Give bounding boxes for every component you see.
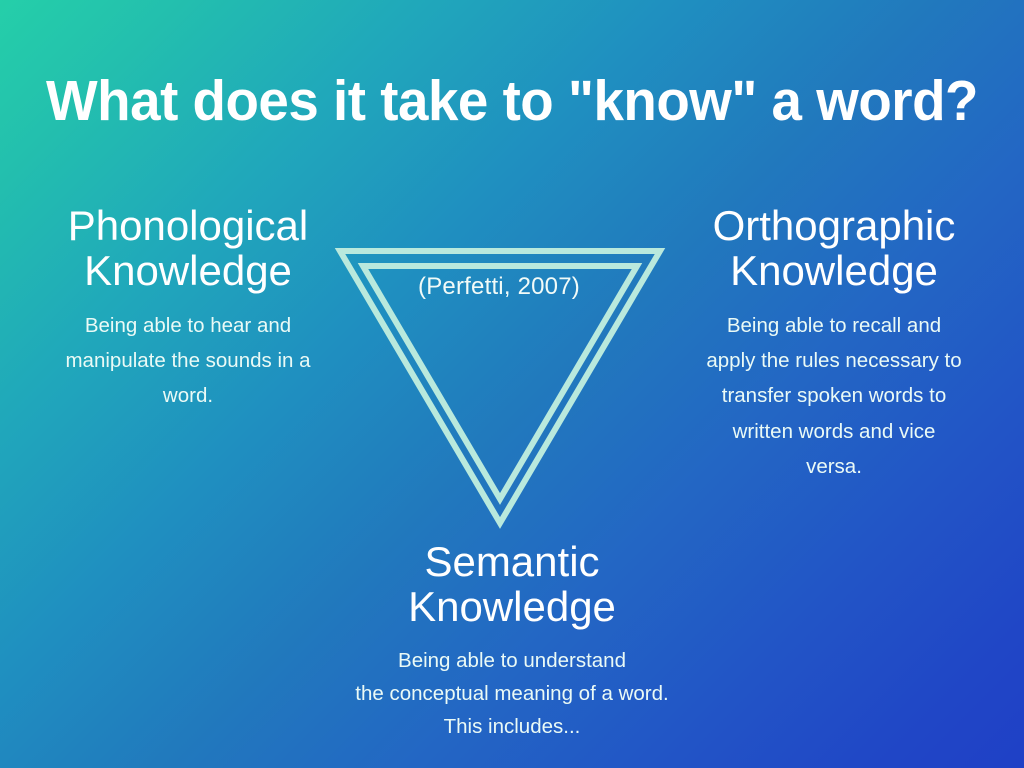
orthographic-heading: Orthographic Knowledge [648,204,1020,294]
slide-canvas: What does it take to "know" a word? Phon… [0,0,1024,768]
diagram-node-semantic: Semantic Knowledge Being able to underst… [262,540,762,743]
semantic-description: Being able to understand the conceptual … [262,644,762,744]
phonological-heading: Phonological Knowledge [8,204,368,294]
orthographic-description: Being able to recall and apply the rules… [648,308,1020,484]
citation-label: (Perfetti, 2007) [324,273,674,301]
phonological-description: Being able to hear and manipulate the so… [8,308,368,414]
diagram-node-phonological: Phonological Knowledge Being able to hea… [8,204,368,414]
semantic-heading: Semantic Knowledge [262,540,762,630]
page-title: What does it take to "know" a word? [20,72,1003,132]
diagram-node-orthographic: Orthographic Knowledge Being able to rec… [648,204,1020,484]
